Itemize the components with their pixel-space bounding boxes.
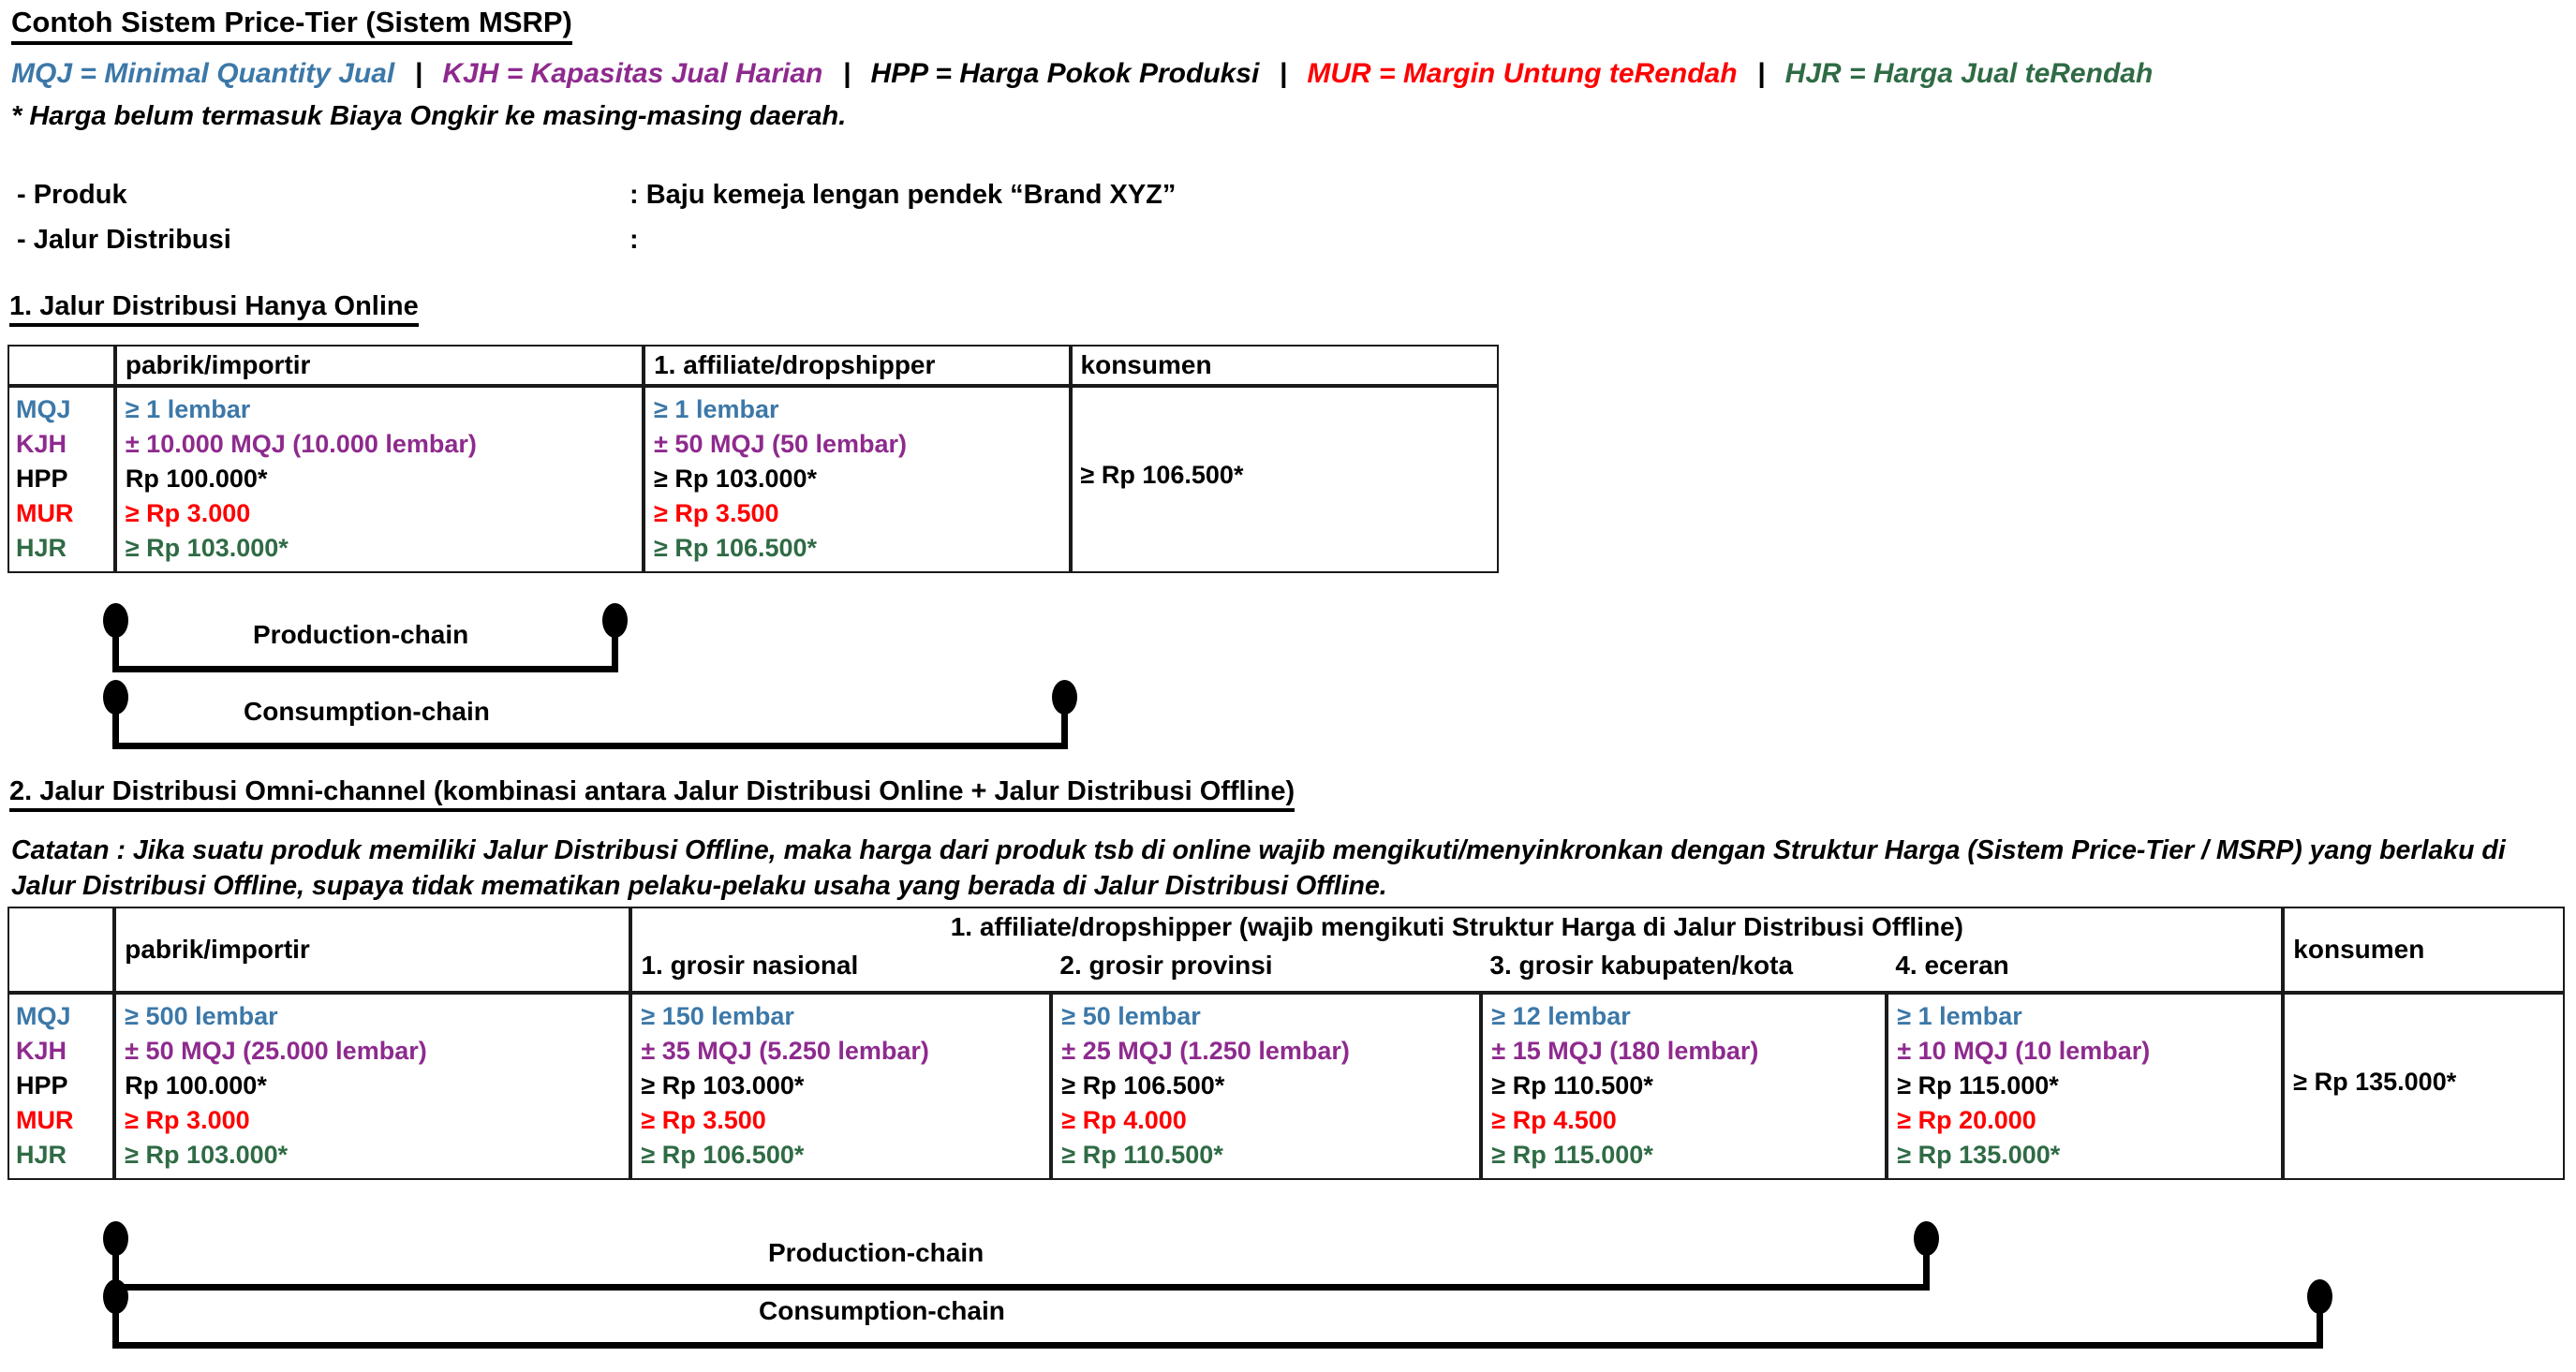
legend-separator-2: | xyxy=(831,58,863,89)
header-pabrik: pabrik/importir xyxy=(114,907,630,993)
row-label-mqj: MQJ xyxy=(9,999,112,1034)
eceran-hpp: ≥ Rp 115.000* xyxy=(1888,1069,2281,1103)
grosir-nasional-hjr: ≥ Rp 106.500* xyxy=(632,1138,1049,1173)
cell-pabrik: ≥ 500 lembar ± 50 MQJ (25.000 lembar) Rp… xyxy=(114,993,630,1180)
chain-bar xyxy=(112,1284,1930,1291)
table-header-row: pabrik/importir 1. affiliate/dropshipper… xyxy=(7,907,2565,949)
affiliate-hjr: ≥ Rp 106.500* xyxy=(645,531,1068,566)
chain-knob-right xyxy=(602,603,628,638)
grosir-provinsi-mur: ≥ Rp 4.000 xyxy=(1053,1103,1479,1138)
row-label-hpp: HPP xyxy=(9,1069,112,1103)
grosir-kabupaten-hjr: ≥ Rp 115.000* xyxy=(1483,1138,1885,1173)
cell-grosir-nasional: ≥ 150 lembar ± 35 MQJ (5.250 lembar) ≥ R… xyxy=(630,993,1051,1180)
legend-mur: MUR = Margin Untung teRendah xyxy=(1307,58,1737,89)
consumption-chain-online: Consumption-chain xyxy=(112,695,1068,749)
production-chain-omnichannel: Production-chain xyxy=(112,1236,1930,1291)
row-label-mur: MUR xyxy=(9,1103,112,1138)
meta-jalur-value: : xyxy=(629,225,639,256)
consumption-chain-label: Consumption-chain xyxy=(244,697,490,727)
row-label-kjh: KJH xyxy=(9,427,113,462)
grosir-kabupaten-mur: ≥ Rp 4.500 xyxy=(1483,1103,1885,1138)
header-grosir-nasional-label: 1. grosir nasional xyxy=(632,949,1051,983)
chain-knob-right xyxy=(1914,1221,1939,1256)
pabrik-mqj: ≥ 500 lembar xyxy=(116,999,629,1034)
production-chain-online: Production-chain xyxy=(112,618,618,672)
pabrik-kjh: ± 50 MQJ (25.000 lembar) xyxy=(116,1034,629,1069)
pabrik-mqj: ≥ 1 lembar xyxy=(117,392,642,427)
grosir-kabupaten-mqj: ≥ 12 lembar xyxy=(1483,999,1885,1034)
eceran-hjr: ≥ Rp 135.000* xyxy=(1888,1138,2281,1173)
meta-jalur-label: - Jalur Distribusi xyxy=(17,225,231,256)
affiliate-kjh: ± 50 MQJ (50 lembar) xyxy=(645,427,1068,462)
header-affiliate-group-label: 1. affiliate/dropshipper (wajib mengikut… xyxy=(632,908,2281,942)
chain-bar xyxy=(112,1342,2323,1349)
legend-hjr: HJR = Harga Jual teRendah xyxy=(1785,58,2154,89)
legend-kjh: KJH = Kapasitas Jual Harian xyxy=(442,58,822,89)
eceran-mur: ≥ Rp 20.000 xyxy=(1888,1103,2281,1138)
chain-bar xyxy=(112,666,618,672)
row-label-hjr: HJR xyxy=(9,1138,112,1173)
affiliate-hpp: ≥ Rp 103.000* xyxy=(645,462,1068,496)
legend-row: MQJ = Minimal Quantity Jual | KJH = Kapa… xyxy=(11,58,2153,89)
konsumen-price: ≥ Rp 135.000* xyxy=(2285,1065,2462,1099)
legend-hpp: HPP = Harga Pokok Produksi xyxy=(870,58,1259,89)
meta-produk-value: : Baju kemeja lengan pendek “Brand XYZ” xyxy=(629,180,1176,211)
catatan-note: Catatan : Jika suatu produk memiliki Jal… xyxy=(11,834,2554,904)
chain-knob-right xyxy=(1052,680,1077,715)
cell-konsumen: ≥ Rp 135.000* xyxy=(2283,993,2565,1180)
header-grosir-kabupaten-label: 3. grosir kabupaten/kota xyxy=(1481,949,1887,983)
chain-knob-right xyxy=(2307,1279,2332,1314)
production-chain-label: Production-chain xyxy=(253,620,468,650)
row-label-hpp: HPP xyxy=(9,462,113,496)
header-pabrik: pabrik/importir xyxy=(115,345,644,386)
price-tier-table-omnichannel: pabrik/importir 1. affiliate/dropshipper… xyxy=(7,907,2565,1180)
cell-pabrik: ≥ 1 lembar ± 10.000 MQJ (10.000 lembar) … xyxy=(115,386,644,573)
grosir-provinsi-kjh: ± 25 MQJ (1.250 lembar) xyxy=(1053,1034,1479,1069)
grosir-nasional-hpp: ≥ Rp 103.000* xyxy=(632,1069,1049,1103)
pabrik-kjh: ± 10.000 MQJ (10.000 lembar) xyxy=(117,427,642,462)
cell-grosir-kabupaten: ≥ 12 lembar ± 15 MQJ (180 lembar) ≥ Rp 1… xyxy=(1481,993,1887,1180)
cell-affiliate: ≥ 1 lembar ± 50 MQJ (50 lembar) ≥ Rp 103… xyxy=(644,386,1070,573)
page-title: Contoh Sistem Price-Tier (Sistem MSRP) xyxy=(11,6,572,45)
pabrik-mur: ≥ Rp 3.000 xyxy=(116,1103,629,1138)
grosir-kabupaten-hpp: ≥ Rp 110.500* xyxy=(1483,1069,1885,1103)
pabrik-mur: ≥ Rp 3.000 xyxy=(117,496,642,531)
header-affiliate-label: 1. affiliate/dropshipper xyxy=(645,347,1068,384)
konsumen-price: ≥ Rp 106.500* xyxy=(1073,458,1250,493)
chain-bar xyxy=(112,743,1068,749)
pabrik-hpp: Rp 100.000* xyxy=(117,462,642,496)
affiliate-mqj: ≥ 1 lembar xyxy=(645,392,1068,427)
grosir-provinsi-hjr: ≥ Rp 110.500* xyxy=(1053,1138,1479,1173)
header-affiliate-group: 1. affiliate/dropshipper (wajib mengikut… xyxy=(630,907,2283,949)
legend-separator-3: | xyxy=(1267,58,1299,89)
header-grosir-nasional: 1. grosir nasional xyxy=(630,949,1051,993)
grosir-provinsi-mqj: ≥ 50 lembar xyxy=(1053,999,1479,1034)
chain-knob-left xyxy=(103,1221,128,1256)
consumption-chain-omnichannel: Consumption-chain xyxy=(112,1294,2323,1349)
cell-grosir-provinsi: ≥ 50 lembar ± 25 MQJ (1.250 lembar) ≥ Rp… xyxy=(1051,993,1481,1180)
production-chain-label: Production-chain xyxy=(768,1238,984,1268)
header-pabrik-label: pabrik/importir xyxy=(117,347,642,384)
grosir-kabupaten-kjh: ± 15 MQJ (180 lembar) xyxy=(1483,1034,1885,1069)
eceran-mqj: ≥ 1 lembar xyxy=(1888,999,2281,1034)
legend-separator-1: | xyxy=(403,58,435,89)
row-label-hjr: HJR xyxy=(9,531,113,566)
row-labels-cell: MQJ KJH HPP MUR HJR xyxy=(7,386,115,573)
affiliate-mur: ≥ Rp 3.500 xyxy=(645,496,1068,531)
legend-separator-4: | xyxy=(1745,58,1777,89)
cell-eceran: ≥ 1 lembar ± 10 MQJ (10 lembar) ≥ Rp 115… xyxy=(1887,993,2283,1180)
shipping-note: * Harga belum termasuk Biaya Ongkir ke m… xyxy=(11,101,846,132)
consumption-chain-label: Consumption-chain xyxy=(759,1296,1005,1326)
row-label-mqj: MQJ xyxy=(9,392,113,427)
header-konsumen: konsumen xyxy=(2283,907,2565,993)
table-body-row: MQJ KJH HPP MUR HJR ≥ 1 lembar ± 10.000 … xyxy=(7,386,1499,573)
pabrik-hpp: Rp 100.000* xyxy=(116,1069,629,1103)
header-grosir-provinsi: 2. grosir provinsi xyxy=(1051,949,1481,993)
row-labels-cell: MQJ KJH HPP MUR HJR xyxy=(7,993,114,1180)
header-konsumen: konsumen xyxy=(1071,345,1499,386)
legend-mqj: MQJ = Minimal Quantity Jual xyxy=(11,58,394,89)
header-affiliate: 1. affiliate/dropshipper xyxy=(644,345,1070,386)
header-konsumen-label: konsumen xyxy=(1073,347,1497,384)
table-body-row: MQJ KJH HPP MUR HJR ≥ 500 lembar ± 50 MQ… xyxy=(7,993,2565,1180)
header-grosir-kabupaten: 3. grosir kabupaten/kota xyxy=(1481,949,1887,993)
table-header-row: pabrik/importir 1. affiliate/dropshipper… xyxy=(7,345,1499,386)
chain-knob-left xyxy=(103,1279,128,1314)
meta-produk-label: - Produk xyxy=(17,180,127,211)
price-tier-table-online: pabrik/importir 1. affiliate/dropshipper… xyxy=(7,345,1499,573)
header-grosir-provinsi-label: 2. grosir provinsi xyxy=(1051,949,1481,983)
eceran-kjh: ± 10 MQJ (10 lembar) xyxy=(1888,1034,2281,1069)
grosir-nasional-mur: ≥ Rp 3.500 xyxy=(632,1103,1049,1138)
header-pabrik-label: pabrik/importir xyxy=(116,935,310,965)
grosir-nasional-kjh: ± 35 MQJ (5.250 lembar) xyxy=(632,1034,1049,1069)
chain-knob-left xyxy=(103,680,128,715)
corner-cell xyxy=(7,345,115,386)
section-1-heading: 1. Jalur Distribusi Hanya Online xyxy=(9,292,419,327)
grosir-provinsi-hpp: ≥ Rp 106.500* xyxy=(1053,1069,1479,1103)
header-eceran: 4. eceran xyxy=(1887,949,2283,993)
grosir-nasional-mqj: ≥ 150 lembar xyxy=(632,999,1049,1034)
cell-konsumen: ≥ Rp 106.500* xyxy=(1071,386,1499,573)
chain-knob-left xyxy=(103,603,128,638)
row-label-mur: MUR xyxy=(9,496,113,531)
header-eceran-label: 4. eceran xyxy=(1887,949,2281,983)
pabrik-hjr: ≥ Rp 103.000* xyxy=(116,1138,629,1173)
section-2-heading: 2. Jalur Distribusi Omni-channel (kombin… xyxy=(9,777,1295,812)
pabrik-hjr: ≥ Rp 103.000* xyxy=(117,531,642,566)
row-label-kjh: KJH xyxy=(9,1034,112,1069)
header-konsumen-label: konsumen xyxy=(2285,935,2424,965)
corner-cell xyxy=(7,907,114,993)
